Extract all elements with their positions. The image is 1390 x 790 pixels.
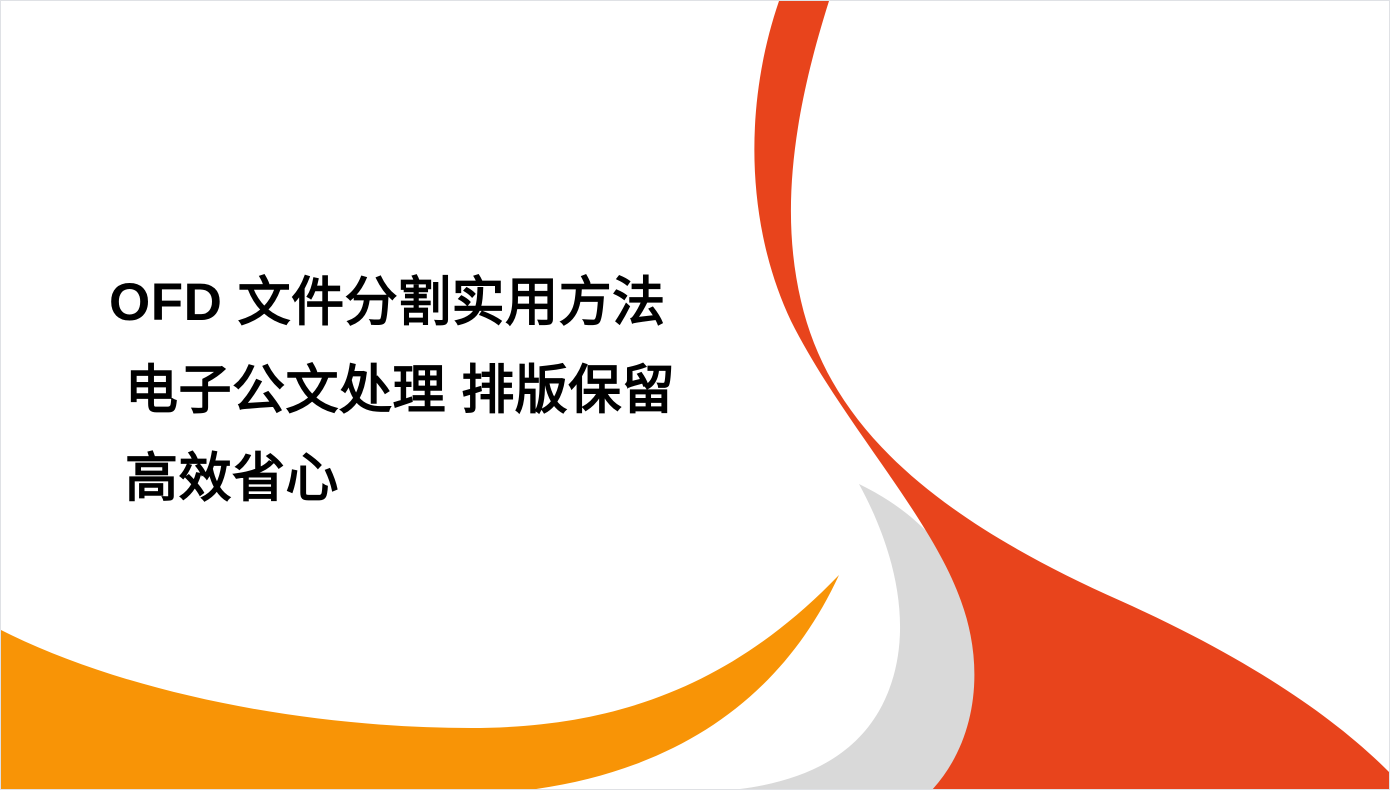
slide-title: OFD 文件分割实用方法 电子公文处理 排版保留 高效省心 [109,259,809,523]
slide-canvas: OFD 文件分割实用方法 电子公文处理 排版保留 高效省心 [0,0,1390,790]
title-line-1: OFD 文件分割实用方法 [109,259,809,347]
title-line-3: 高效省心 [109,435,809,523]
title-line-2: 电子公文处理 排版保留 [109,347,809,435]
